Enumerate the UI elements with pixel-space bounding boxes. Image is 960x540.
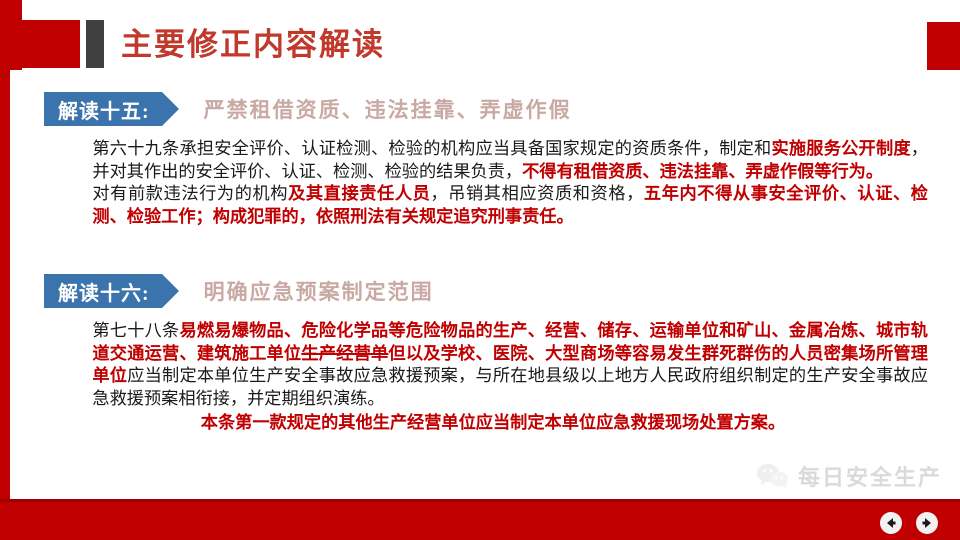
prev-slide-button[interactable] [880,512,902,534]
section-15-title: 严禁租借资质、违法挂靠、弄虚作假 [204,94,572,124]
text-run: 应当制定本单位生产安全事故应急救援预案，与所在地县级以上地方人民政府组织制定的生… [92,366,928,408]
section-16-paragraph-2: 本条第一款规定的其他生产经营单位应当制定本单位应急救援现场处置方案。 [58,412,928,435]
section-15-paragraph-2: 对有前款违法行为的机构及其直接责任人员，吊销其相应资质和资格，五年内不得从事安全… [58,183,928,228]
text-run: 生产经营单 [301,344,388,363]
left-red-strip [0,0,10,540]
text-run: 及其直接责任人员 [288,184,430,203]
section-16-banner: 解读十六: 明确应急预案制定范围 [44,274,960,308]
arrow-left-icon [885,517,897,529]
next-slide-button[interactable] [916,512,938,534]
section-16-paragraph-1: 第七十八条易燃易爆物品、危险化学品等危险物品的生产、经营、储存、运输单位和矿山、… [58,320,928,410]
slide-nav[interactable] [880,512,938,534]
text-run: 第六十九条承担安全评价、认证检测、检验的机构应当具备国家规定的资质条件，制定和 [92,139,771,158]
wechat-icon [756,462,790,490]
slide-title-row: 主要修正内容解读 [0,20,385,68]
arrow-right-icon [921,517,933,529]
title-gray-marker [86,20,104,68]
bottom-band-highlight [0,499,960,502]
slide-canvas: 主要修正内容解读 解读十五: 严禁租借资质、违法挂靠、弄虚作假 第六十九条承担安… [0,0,960,540]
section-15-banner: 解读十五: 严禁租借资质、违法挂靠、弄虚作假 [44,92,960,126]
watermark: 每日安全生产 [756,460,942,492]
title-red-marker [0,20,80,68]
section-15-paragraph-1: 第六十九条承担安全评价、认证检测、检验的机构应当具备国家规定的资质条件，制定和实… [58,138,928,183]
text-run: 不得有租借资质、违法挂靠、弄虚作假等行为。 [522,162,883,181]
text-run: 对有前款违法行为的机构 [92,184,288,203]
section-16-chip: 解读十六: [44,274,162,308]
text-run: 第七十八条 [92,321,179,340]
watermark-text: 每日安全生产 [798,460,942,492]
section-16-body: 第七十八条易燃易爆物品、危险化学品等危险物品的生产、经营、储存、运输单位和矿山、… [58,320,928,435]
bottom-red-band [0,499,960,540]
text-run: 实施服务公开制度 [771,139,910,158]
top-right-red-block [927,22,960,70]
text-run: 本条第一款规定的其他生产经营单位应当制定本单位应急救援现场处置方案。 [201,413,785,432]
section-15-body: 第六十九条承担安全评价、认证检测、检验的机构应当具备国家规定的资质条件，制定和实… [58,138,928,228]
section-16-title: 明确应急预案制定范围 [204,276,434,306]
section-16: 解读十六: 明确应急预案制定范围 第七十八条易燃易爆物品、危险化学品等危险物品的… [0,274,960,435]
section-15: 解读十五: 严禁租借资质、违法挂靠、弄虚作假 第六十九条承担安全评价、认证检测、… [0,92,960,228]
page-title: 主要修正内容解读 [121,29,385,60]
text-run: ，吊销其相应资质和资格， [430,184,644,203]
section-15-chip: 解读十五: [44,92,162,126]
